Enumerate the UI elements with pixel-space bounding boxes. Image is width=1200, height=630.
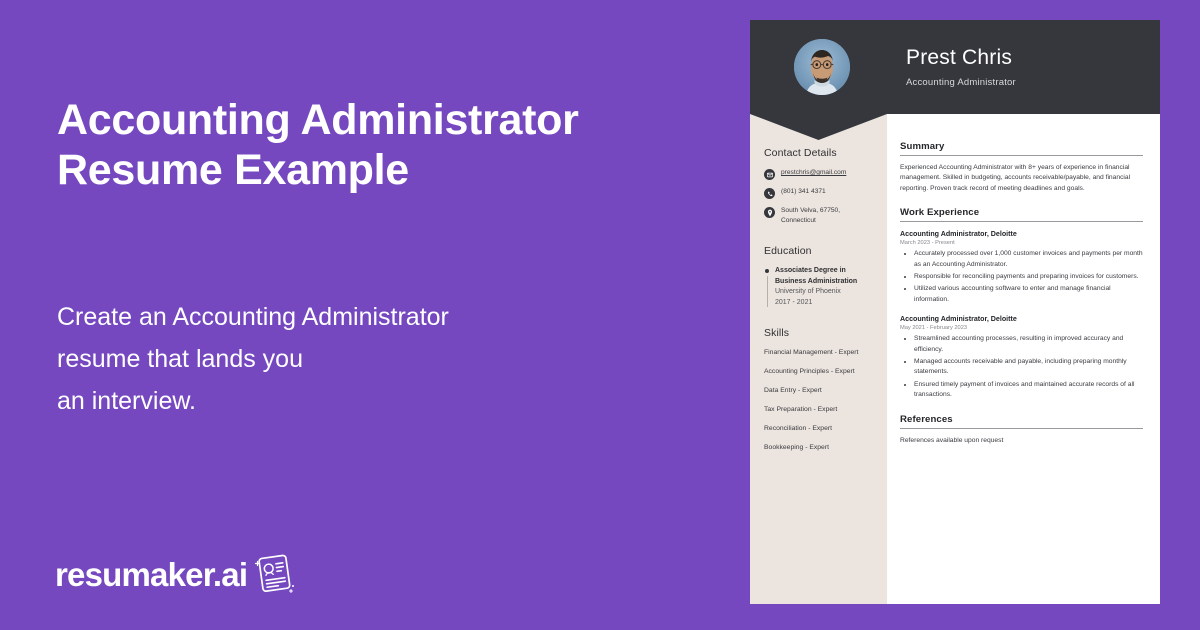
job-dates: March 2023 - Present bbox=[900, 240, 1143, 246]
resume-main-column: Summary Experienced Accounting Administr… bbox=[887, 114, 1160, 604]
contact-phone-value: (801) 341 4371 bbox=[781, 187, 826, 197]
references-heading: References bbox=[900, 414, 1143, 429]
job-title: Accounting Administrator, Deloitte bbox=[900, 314, 1143, 324]
promo-subtitle: Create an Accounting Administrator resum… bbox=[57, 296, 617, 422]
skill-item: Accounting Principles - Expert bbox=[764, 367, 874, 376]
references-section: References References available upon req… bbox=[900, 414, 1143, 446]
education-heading: Education bbox=[764, 245, 874, 257]
brand-logo[interactable]: resumaker.ai bbox=[55, 551, 296, 597]
contact-item-email: prestchris@gmail.com bbox=[764, 168, 874, 180]
contact-address-value: South Velva, 67750, Connecticut bbox=[781, 206, 874, 226]
skills-section: Skills Financial Management - Expert Acc… bbox=[764, 327, 874, 452]
work-experience-item: Accounting Administrator, Deloitte May 2… bbox=[900, 314, 1143, 400]
skill-item: Data Entry - Expert bbox=[764, 386, 874, 395]
job-bullet: Utilized various accounting software to … bbox=[914, 284, 1143, 305]
subtitle-line-2: resume that lands you bbox=[57, 338, 617, 380]
location-pin-icon bbox=[764, 207, 775, 218]
education-school: University of Phoenix bbox=[775, 288, 841, 295]
education-bullet-icon bbox=[764, 266, 775, 308]
subtitle-line-3: an interview. bbox=[57, 380, 617, 422]
summary-text: Experienced Accounting Administrator wit… bbox=[900, 163, 1143, 194]
education-degree-line-1: Associates Degree in bbox=[775, 267, 846, 274]
resume-body: Contact Details prestchris@gmail.com (80… bbox=[750, 114, 1160, 604]
avatar bbox=[794, 39, 850, 95]
resume-header: Prest Chris Accounting Administrator bbox=[750, 20, 1160, 114]
skill-item: Tax Preparation - Expert bbox=[764, 405, 874, 414]
job-title: Accounting Administrator, Deloitte bbox=[900, 229, 1143, 239]
promo-banner: Accounting Administrator Resume Example … bbox=[0, 0, 1200, 630]
work-experience-heading: Work Experience bbox=[900, 207, 1143, 222]
education-degree-line-2: Business Administration bbox=[775, 278, 857, 285]
page-title: Accounting Administrator Resume Example bbox=[57, 95, 657, 195]
job-bullet: Streamlined accounting processes, result… bbox=[914, 334, 1143, 355]
resume-sidebar: Contact Details prestchris@gmail.com (80… bbox=[750, 114, 887, 604]
education-dates: 2017 - 2021 bbox=[775, 299, 812, 306]
resume-name: Prest Chris bbox=[906, 46, 1016, 69]
title-line-1: Accounting Administrator bbox=[57, 96, 579, 144]
job-bullet: Ensured timely payment of invoices and m… bbox=[914, 380, 1143, 401]
skill-item: Bookkeeping - Expert bbox=[764, 443, 874, 452]
contact-item-phone: (801) 341 4371 bbox=[764, 187, 874, 199]
education-item: Associates Degree in Business Administra… bbox=[764, 266, 874, 308]
references-text: References available upon request bbox=[900, 436, 1143, 446]
contact-details-heading: Contact Details bbox=[764, 147, 874, 159]
work-experience-section: Work Experience Accounting Administrator… bbox=[900, 207, 1143, 400]
education-section: Education Associates Degree in Business … bbox=[764, 245, 874, 308]
job-bullet: Managed accounts receivable and payable,… bbox=[914, 357, 1143, 378]
summary-section: Summary Experienced Accounting Administr… bbox=[900, 141, 1143, 194]
resume-preview-card: Prest Chris Accounting Administrator Con… bbox=[750, 20, 1160, 604]
envelope-icon bbox=[764, 169, 775, 180]
title-line-2: Resume Example bbox=[57, 146, 409, 194]
phone-icon bbox=[764, 188, 775, 199]
contact-item-address: South Velva, 67750, Connecticut bbox=[764, 206, 874, 226]
subtitle-line-1: Create an Accounting Administrator bbox=[57, 296, 617, 338]
skill-item: Reconciliation - Expert bbox=[764, 424, 874, 433]
contact-email-value[interactable]: prestchris@gmail.com bbox=[781, 168, 846, 178]
work-experience-item: Accounting Administrator, Deloitte March… bbox=[900, 229, 1143, 305]
education-details: Associates Degree in Business Administra… bbox=[775, 266, 857, 308]
job-bullet: Accurately processed over 1,000 customer… bbox=[914, 249, 1143, 270]
skill-item: Financial Management - Expert bbox=[764, 348, 874, 357]
resume-role: Accounting Administrator bbox=[906, 77, 1016, 88]
promo-heading: Accounting Administrator Resume Example bbox=[57, 95, 657, 195]
summary-heading: Summary bbox=[900, 141, 1143, 156]
job-bullet: Responsible for reconciling payments and… bbox=[914, 272, 1143, 282]
contact-details-section: Contact Details prestchris@gmail.com (80… bbox=[764, 147, 874, 226]
job-dates: May 2021 - February 2023 bbox=[900, 325, 1143, 331]
skills-heading: Skills bbox=[764, 327, 874, 339]
resume-document-icon bbox=[250, 551, 296, 597]
brand-name: resumaker.ai bbox=[55, 558, 247, 591]
